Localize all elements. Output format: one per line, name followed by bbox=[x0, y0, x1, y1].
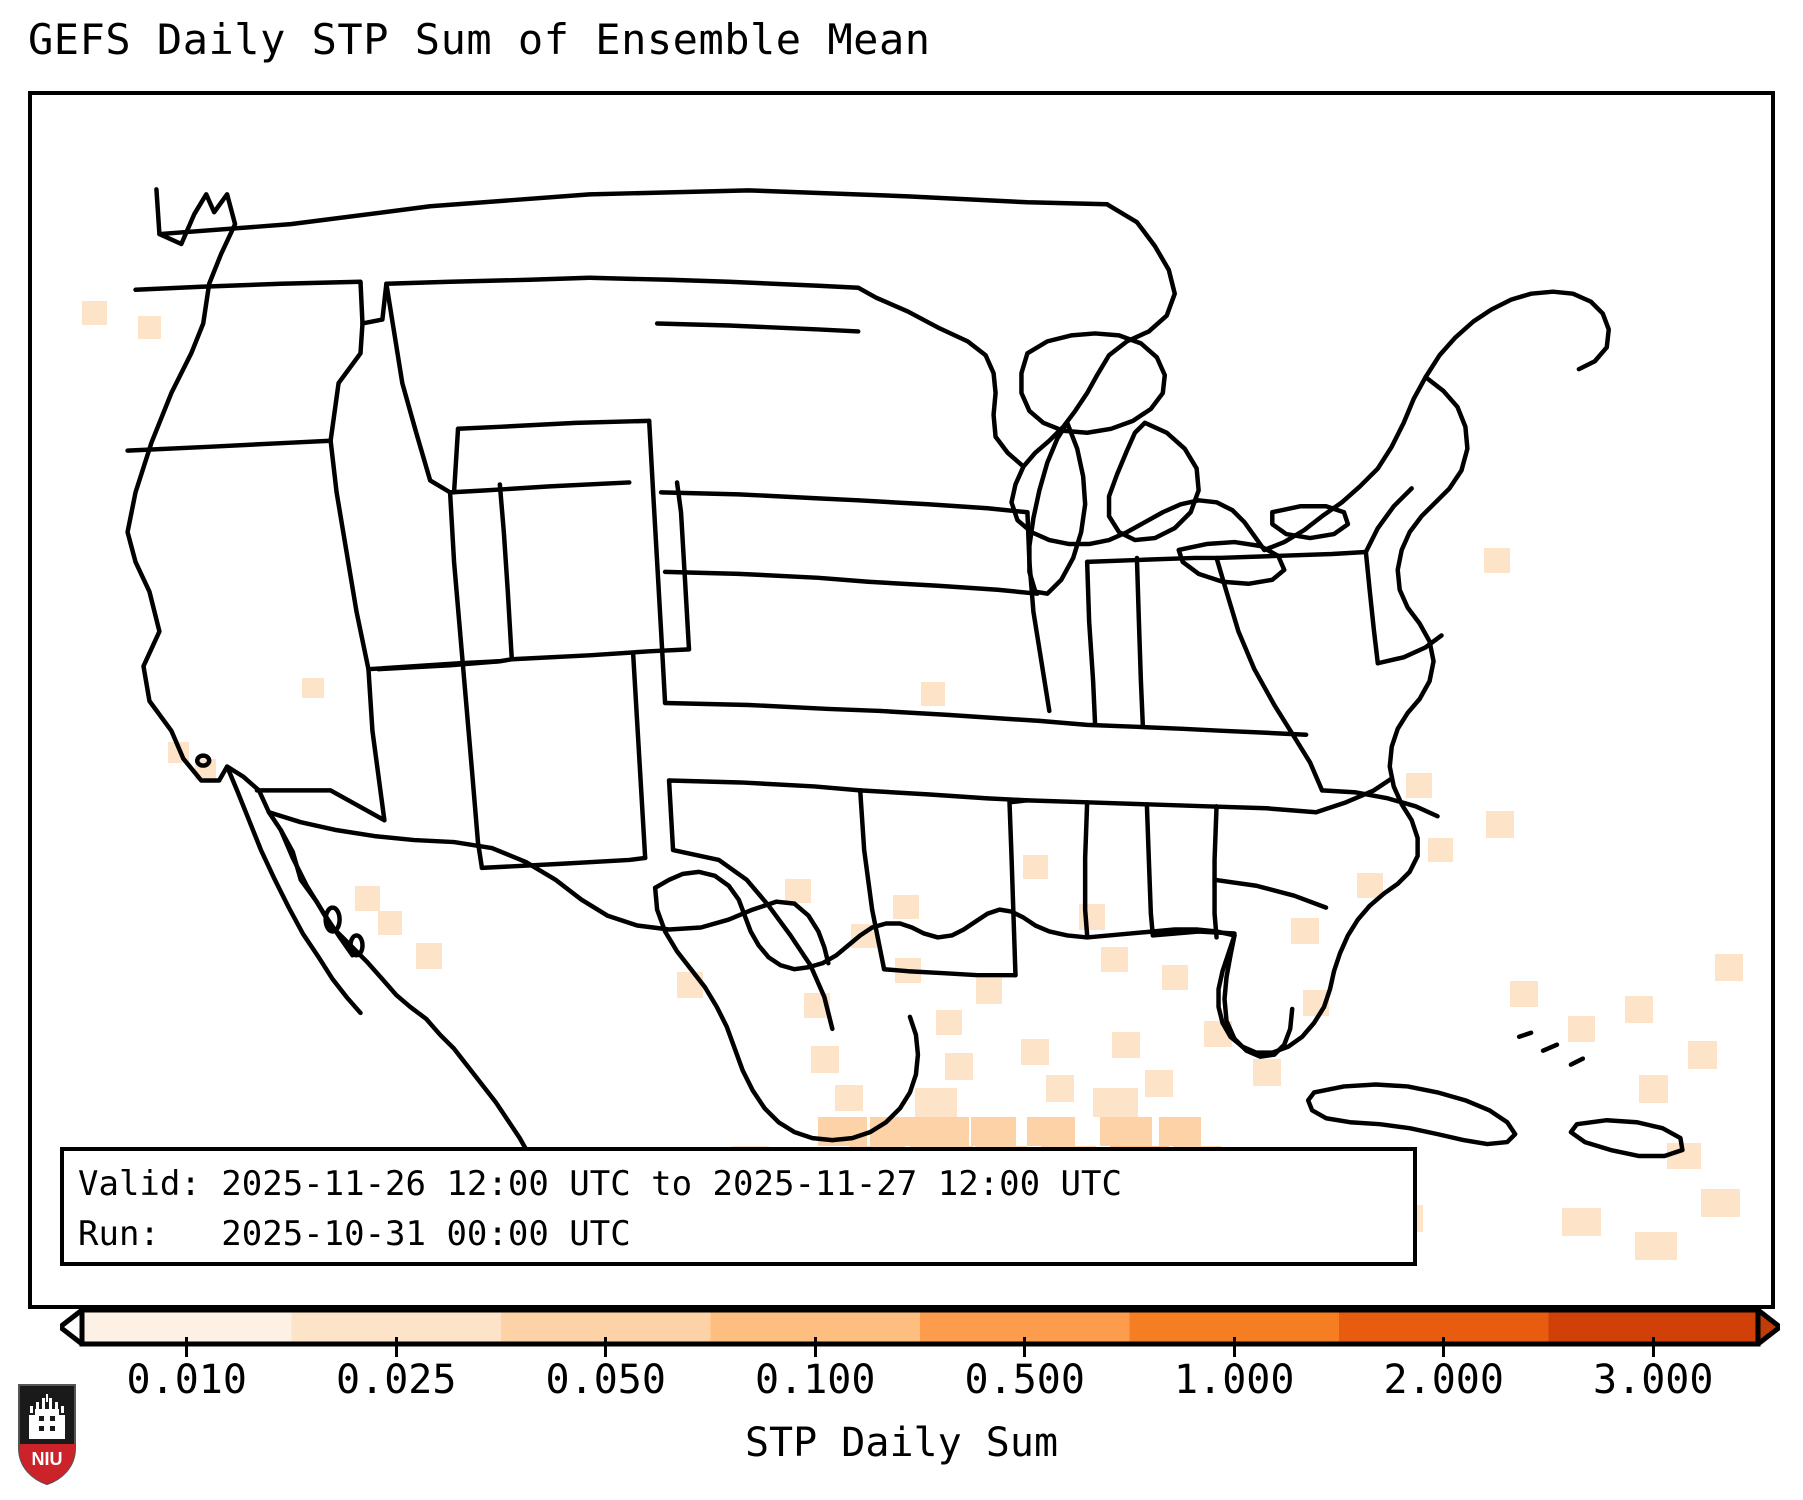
colorbar-tick-2 bbox=[604, 1337, 607, 1357]
colorbar-tick-label-2: 0.050 bbox=[546, 1356, 666, 1404]
niu-shield-logo: NIU bbox=[16, 1382, 78, 1487]
colorbar-tick-3 bbox=[814, 1337, 817, 1357]
colorbar-tick-labels: 0.0100.0250.0500.1000.5001.0002.0003.000 bbox=[0, 1356, 1803, 1406]
gefs-stp-map-page: GEFS Daily STP Sum of Ensemble Mean bbox=[0, 0, 1803, 1500]
colorbar-tick-6 bbox=[1442, 1337, 1445, 1357]
colorbar-tick-label-1: 0.025 bbox=[336, 1356, 456, 1404]
map-panel bbox=[28, 91, 1775, 1309]
colorbar-tick-label-6: 2.000 bbox=[1384, 1356, 1504, 1404]
run-time-line: Run: 2025-10-31 00:00 UTC bbox=[78, 1209, 1399, 1259]
valid-time-line: Valid: 2025-11-26 12:00 UTC to 2025-11-2… bbox=[78, 1159, 1399, 1209]
map-geography bbox=[32, 95, 1771, 1305]
niu-logo-text: NIU bbox=[32, 1449, 63, 1469]
colorbar-axis-title: STP Daily Sum bbox=[0, 1418, 1803, 1468]
colorbar-tick-label-5: 1.000 bbox=[1174, 1356, 1294, 1404]
colorbar-tick-label-4: 0.500 bbox=[965, 1356, 1085, 1404]
colorbar-tick-5 bbox=[1233, 1337, 1236, 1357]
colorbar-tick-4 bbox=[1023, 1337, 1026, 1357]
page-title: GEFS Daily STP Sum of Ensemble Mean bbox=[28, 14, 931, 66]
colorbar-tick-label-3: 0.100 bbox=[755, 1356, 875, 1404]
valid-run-info-box: Valid: 2025-11-26 12:00 UTC to 2025-11-2… bbox=[60, 1147, 1417, 1266]
colorbar-tick-7 bbox=[1652, 1337, 1655, 1357]
colorbar-tick-label-7: 3.000 bbox=[1593, 1356, 1713, 1404]
niu-logo-svg: NIU bbox=[16, 1382, 78, 1487]
colorbar-tick-0 bbox=[185, 1337, 188, 1357]
colorbar-tick-1 bbox=[395, 1337, 398, 1357]
colorbar-tick-label-0: 0.010 bbox=[127, 1356, 247, 1404]
